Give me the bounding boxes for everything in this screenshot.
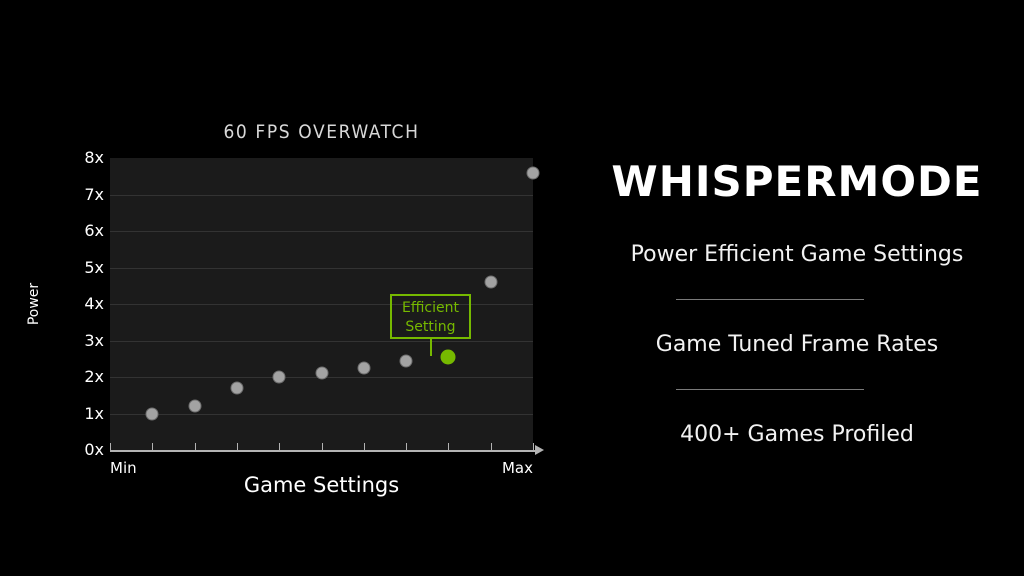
y-axis-tick-label: 5x xyxy=(84,260,104,276)
data-point xyxy=(189,401,200,412)
x-axis-tick xyxy=(448,443,449,451)
callout-line-2: Setting xyxy=(392,318,469,337)
gridline xyxy=(110,231,533,232)
x-axis-line xyxy=(110,450,537,452)
x-axis-tick xyxy=(364,443,365,451)
right-panel: WHISPERMODE Power Efficient Game Setting… xyxy=(570,0,1024,576)
x-axis-tick xyxy=(406,443,407,451)
x-axis-tick xyxy=(491,443,492,451)
y-axis-tick-label: 1x xyxy=(84,406,104,422)
x-axis-tick xyxy=(533,443,534,451)
data-point xyxy=(231,382,242,393)
feature-item-0: Power Efficient Game Settings xyxy=(570,241,1024,269)
x-axis-tick xyxy=(195,443,196,451)
y-axis-tick-label: 8x xyxy=(84,150,104,166)
y-axis-tick-label: 4x xyxy=(84,296,104,312)
y-axis-title: Power xyxy=(26,283,42,325)
brand-title: WHISPERMODE xyxy=(570,158,1024,206)
callout-line-1: Efficient xyxy=(392,299,469,318)
y-axis-tick-label: 2x xyxy=(84,369,104,385)
y-axis-tick-label: 3x xyxy=(84,333,104,349)
x-axis-tick xyxy=(279,443,280,451)
x-axis-title: Game Settings xyxy=(110,473,533,497)
x-axis-tick xyxy=(322,443,323,451)
gridline xyxy=(110,195,533,196)
gridline xyxy=(110,341,533,342)
data-point-highlighted xyxy=(441,349,456,364)
chart-panel: 60 FPS OVERWATCH 0x1x2x3x4x5x6x7x8x Powe… xyxy=(0,0,570,576)
y-axis-tick-label: 7x xyxy=(84,187,104,203)
chart-title: 60 FPS OVERWATCH xyxy=(110,121,533,143)
feature-divider-0 xyxy=(676,299,864,300)
gridline xyxy=(110,414,533,415)
data-point xyxy=(485,277,496,288)
x-axis-tick xyxy=(152,443,153,451)
y-axis-tick-labels: 0x1x2x3x4x5x6x7x8x xyxy=(60,158,104,450)
efficient-setting-callout: Efficient Setting xyxy=(390,294,471,339)
feature-divider-1 xyxy=(676,389,864,390)
feature-item-1: Game Tuned Frame Rates xyxy=(570,331,1024,359)
callout-connector-line xyxy=(430,339,432,356)
x-axis-arrow-icon xyxy=(535,445,544,455)
feature-item-2: 400+ Games Profiled xyxy=(570,421,1024,449)
data-point xyxy=(316,368,327,379)
data-point xyxy=(401,355,412,366)
data-point xyxy=(274,372,285,383)
y-axis-tick-label: 6x xyxy=(84,223,104,239)
data-point xyxy=(528,167,539,178)
data-point xyxy=(147,408,158,419)
x-axis-tick xyxy=(237,443,238,451)
x-axis-tick xyxy=(110,443,111,451)
data-point xyxy=(358,362,369,373)
y-axis-tick-label: 0x xyxy=(84,442,104,458)
gridline xyxy=(110,268,533,269)
